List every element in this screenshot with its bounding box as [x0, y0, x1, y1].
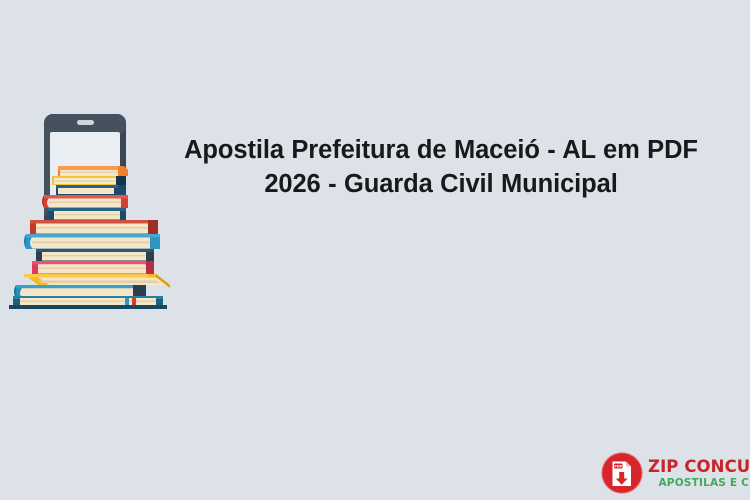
brand-logo[interactable]: PDF ZIP CONCURSOS APOSTILAS E CURSOS [601, 450, 745, 496]
book-blue-wide [24, 234, 160, 249]
book-cream [52, 176, 126, 185]
svg-text:PDF: PDF [614, 465, 623, 469]
promo-banner: Apostila Prefeitura de Maceió - AL em PD… [0, 0, 750, 500]
product-title-text: Apostila Prefeitura de Maceió - AL em PD… [160, 133, 722, 201]
brand-tagline-text: APOSTILAS E CURSOS [648, 476, 750, 490]
book-darkred [30, 220, 158, 234]
book-crimson [32, 261, 154, 274]
stack-of-books-with-tablet-illustration [8, 110, 183, 310]
bookmark-red [132, 298, 136, 306]
book-red-upper [42, 195, 128, 208]
books-illustration-svg [8, 110, 183, 310]
bookmark-blue [125, 298, 129, 306]
pdf-download-icon: PDF [601, 452, 643, 494]
brand-wordmark: ZIP CONCURSOS APOSTILAS E CURSOS [648, 457, 750, 490]
book-navy-upper [56, 185, 126, 195]
page-title: Apostila Prefeitura de Maceió - AL em PD… [160, 133, 722, 201]
pdf-download-icon-svg: PDF [601, 452, 643, 494]
book-orange-top [58, 166, 128, 176]
brand-name-text: ZIP CONCURSOS [648, 457, 750, 476]
book-slate [36, 249, 154, 261]
book-base [9, 296, 167, 309]
book-navy-mid [48, 208, 126, 220]
